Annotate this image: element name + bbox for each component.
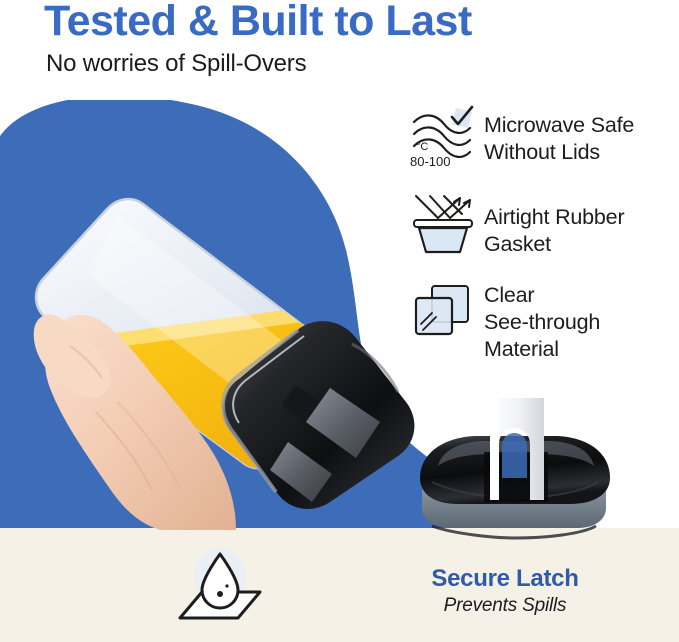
feature-line-1: Clear (484, 282, 600, 309)
feature-line-2: Without Lids (484, 139, 634, 166)
feature-line-2: See-through (484, 309, 600, 336)
feature-item-microwave-safe: °C 80-100 Microwave Safe Without Lids (410, 104, 675, 170)
clear-see-through-squares-icon (410, 280, 484, 346)
page-subtitle: No worries of Spill-Overs (46, 50, 306, 78)
airtight-gasket-container-icon (410, 192, 484, 258)
feature-line-3: Material (484, 336, 600, 363)
water-drop-on-surface-icon (168, 548, 272, 630)
feature-list: °C 80-100 Microwave Safe Without Lids (410, 104, 675, 385)
feature-label-microwave-safe: Microwave Safe Without Lids (484, 104, 634, 166)
secure-latch-title: Secure Latch (380, 566, 630, 592)
feature-line-2: Gasket (484, 231, 624, 258)
product-photo-hand-holding-container (0, 150, 420, 530)
microwave-waves-icon: °C 80-100 (410, 104, 484, 170)
feature-label-airtight-gasket: Airtight Rubber Gasket (484, 192, 624, 258)
feature-label-clear-material: Clear See-through Material (484, 280, 600, 363)
product-infographic: °C 80-100 Microwave Safe Without Lids (0, 0, 679, 642)
feature-line-1: Microwave Safe (484, 112, 634, 139)
feature-item-airtight-gasket: Airtight Rubber Gasket (410, 192, 675, 258)
page-title: Tested & Built to Last (44, 0, 472, 43)
secure-latch-caption: Secure Latch Prevents Spills (380, 566, 630, 617)
badge-unit-text: °C (416, 141, 428, 153)
badge-range-text: 80-100 (410, 154, 450, 169)
feature-item-clear-material: Clear See-through Material (410, 280, 675, 363)
feature-line-1: Airtight Rubber (484, 204, 624, 231)
product-photo-secure-latch (398, 382, 628, 542)
secure-latch-subtitle: Prevents Spills (380, 595, 630, 617)
